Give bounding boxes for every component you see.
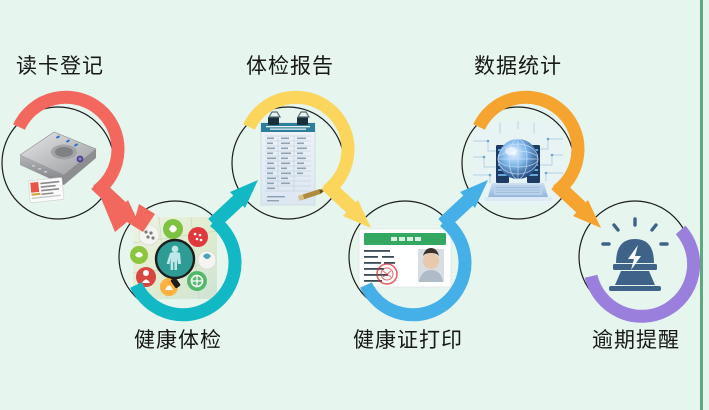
- right-edge-rule: [700, 0, 703, 410]
- health-certificate-icon: [359, 229, 451, 287]
- card-reader-icon: [20, 132, 96, 203]
- diagram-canvas: 读卡登记 健康体检 体检报告 健康证打印 数据统计 逾期提醒: [0, 0, 709, 410]
- data-analytics-icon: [472, 121, 564, 205]
- node-label-health-examination: 健康体检: [134, 330, 222, 351]
- node-label-card-read-registration: 读卡登记: [16, 56, 104, 77]
- node-label-overdue-reminder: 逾期提醒: [592, 330, 680, 351]
- alarm-siren-icon: [603, 219, 667, 291]
- node-label-health-certificate-print: 健康证打印: [353, 330, 463, 351]
- report-document-icon: [261, 112, 326, 205]
- node-label-examination-report: 体检报告: [246, 56, 334, 77]
- node-label-data-statistics: 数据统计: [474, 56, 562, 77]
